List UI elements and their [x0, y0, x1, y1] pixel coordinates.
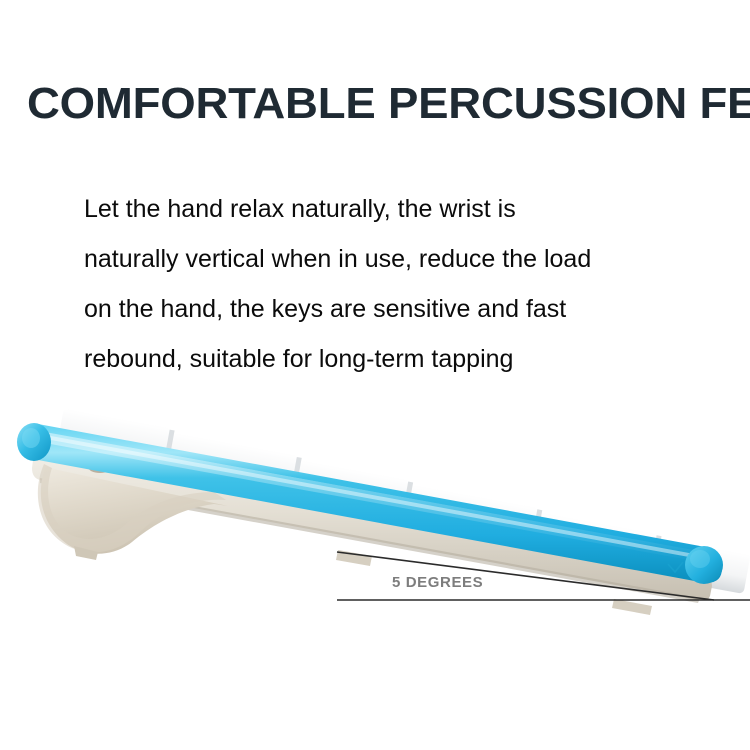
angle-label: 5 DEGREES — [392, 574, 483, 591]
product-feature-slide: COMFORTABLE PERCUSSION FEEL Let the hand… — [0, 0, 750, 750]
description-line: on the hand, the keys are sensitive and … — [84, 284, 684, 334]
description-line: rebound, suitable for long-term tapping — [84, 334, 684, 384]
product-photo — [0, 400, 750, 630]
description-line: naturally vertical when in use, reduce t… — [84, 234, 684, 284]
description-line: Let the hand relax naturally, the wrist … — [84, 184, 684, 234]
description-paragraph: Let the hand relax naturally, the wrist … — [84, 184, 684, 384]
page-title: COMFORTABLE PERCUSSION FEEL — [27, 78, 750, 130]
